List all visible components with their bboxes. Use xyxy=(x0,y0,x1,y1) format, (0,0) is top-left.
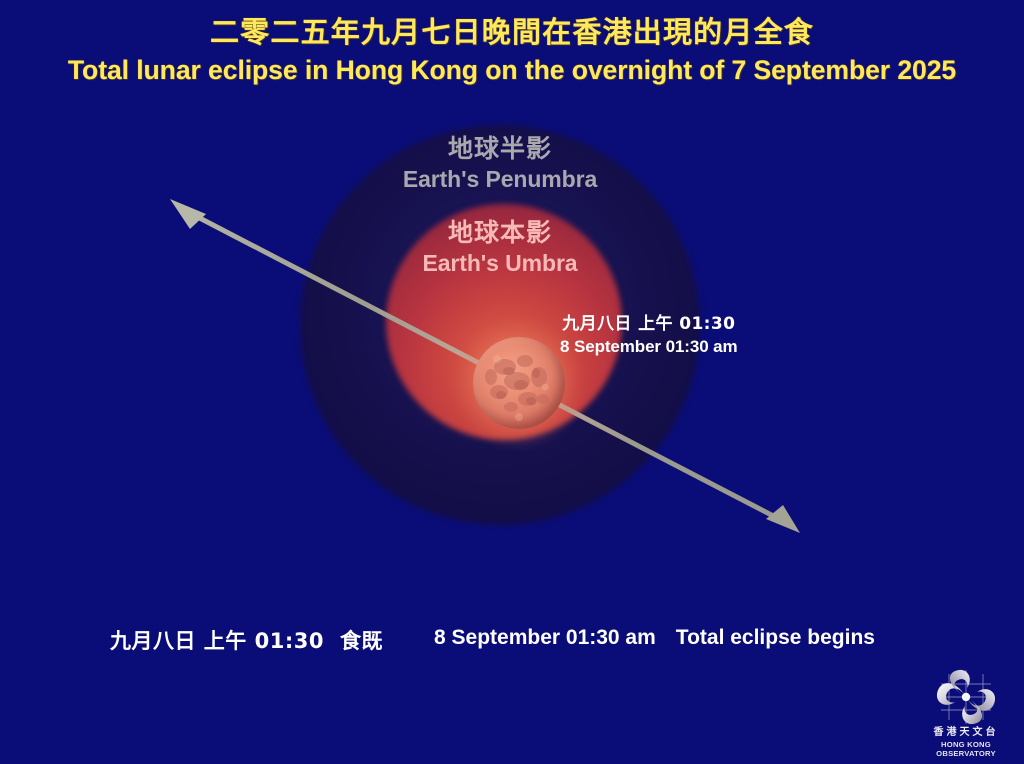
umbra-label: 地球本影 Earth's Umbra xyxy=(300,216,700,279)
blood-moon-icon xyxy=(473,337,565,429)
eclipse-diagram-slide: 二零二五年九月七日晚間在香港出現的月全食 Total lunar eclipse… xyxy=(0,0,1024,764)
caption-chinese-term: 食既 xyxy=(340,629,383,653)
penumbra-label-english: Earth's Penumbra xyxy=(300,165,700,195)
umbra-label-english: Earth's Umbra xyxy=(300,249,700,279)
moon-time-chinese: 九月八日 上午 01:30 xyxy=(560,313,738,336)
moon-disc xyxy=(473,337,565,429)
umbra-label-chinese: 地球本影 xyxy=(300,216,700,249)
page-title-english: Total lunar eclipse in Hong Kong on the … xyxy=(8,54,1017,86)
page-title-chinese: 二零二五年九月七日晚間在香港出現的月全食 xyxy=(0,14,1024,50)
hko-spiral-logo-icon xyxy=(925,668,1007,726)
caption-chinese-time: 九月八日 上午 01:30 xyxy=(110,629,324,653)
penumbra-label: 地球半影 Earth's Penumbra xyxy=(300,132,700,195)
caption-english-time: 8 September 01:30 am xyxy=(434,626,656,649)
moon-time-english: 8 September 01:30 am xyxy=(560,336,738,359)
title-block: 二零二五年九月七日晚間在香港出現的月全食 Total lunar eclipse… xyxy=(0,14,1024,87)
caption-english: 8 September 01:30 amTotal eclipse begins xyxy=(434,626,875,650)
penumbra-label-chinese: 地球半影 xyxy=(300,132,700,165)
caption-chinese: 九月八日 上午 01:30食既 xyxy=(110,625,383,655)
bottom-caption: 九月八日 上午 01:30食既 8 September 01:30 amTota… xyxy=(0,625,1024,659)
moon-time-annotation: 九月八日 上午 01:30 8 September 01:30 am xyxy=(560,313,738,359)
hko-logo: 香港天文台 HONG KONG OBSERVATORY xyxy=(916,668,1016,754)
hko-logo-english: HONG KONG OBSERVATORY xyxy=(915,740,1017,758)
caption-english-term: Total eclipse begins xyxy=(676,626,875,649)
hko-logo-chinese: 香港天文台 xyxy=(916,727,1016,740)
